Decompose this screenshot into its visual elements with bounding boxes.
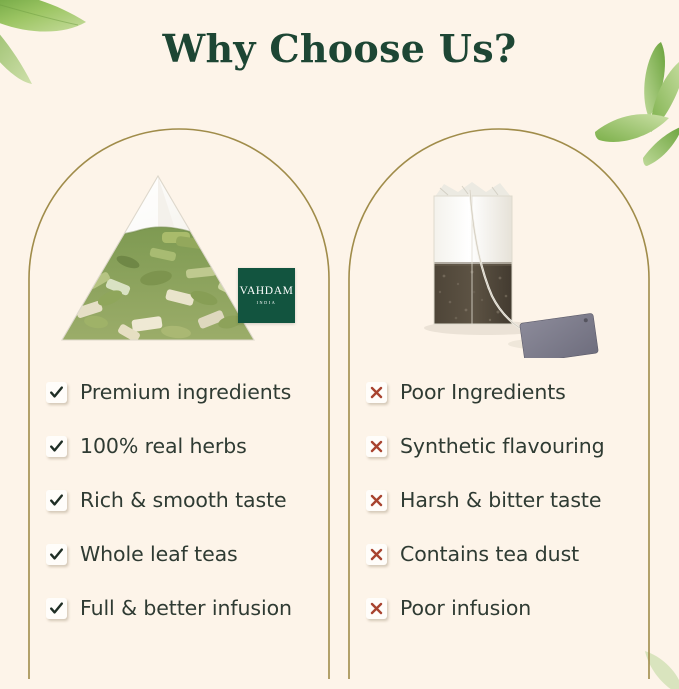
vahdam-sub-text: INDIA: [257, 301, 277, 305]
cross-icon: [366, 598, 387, 619]
pros-list: Premium ingredients 100% real herbs Rich…: [46, 372, 336, 642]
cross-icon: [366, 490, 387, 511]
list-item-label: Full & better infusion: [80, 596, 292, 620]
vahdam-brand-text: VAHDAM: [240, 286, 294, 298]
list-item-label: Poor Ingredients: [400, 380, 566, 404]
list-item: Poor Ingredients: [366, 372, 666, 412]
list-item: 100% real herbs: [46, 426, 336, 466]
list-item: Synthetic flavouring: [366, 426, 666, 466]
list-item: Contains tea dust: [366, 534, 666, 574]
page-title: Why Choose Us?: [0, 26, 679, 71]
ordinary-teabag-image: [400, 168, 610, 358]
check-icon: [46, 382, 67, 403]
list-item: Poor infusion: [366, 588, 666, 628]
check-icon: [46, 598, 67, 619]
list-item: Rich & smooth taste: [46, 480, 336, 520]
comparison-infographic: Why Choose Us?: [0, 0, 679, 679]
list-item-label: Poor infusion: [400, 596, 531, 620]
list-item: Harsh & bitter taste: [366, 480, 666, 520]
pyramid-teabag-image: [58, 172, 258, 344]
list-item-label: Premium ingredients: [80, 380, 291, 404]
vahdam-logo: VAHDAM INDIA: [238, 268, 295, 323]
cross-icon: [366, 436, 387, 457]
list-item-label: Whole leaf teas: [80, 542, 238, 566]
list-item-label: Rich & smooth taste: [80, 488, 287, 512]
list-item: Premium ingredients: [46, 372, 336, 412]
check-icon: [46, 436, 67, 457]
list-item-label: 100% real herbs: [80, 434, 247, 458]
cross-icon: [366, 382, 387, 403]
check-icon: [46, 544, 67, 565]
cross-icon: [366, 544, 387, 565]
list-item: Whole leaf teas: [46, 534, 336, 574]
cons-list: Poor Ingredients Synthetic flavouring Ha…: [366, 372, 666, 642]
check-icon: [46, 490, 67, 511]
list-item-label: Contains tea dust: [400, 542, 579, 566]
list-item-label: Harsh & bitter taste: [400, 488, 601, 512]
list-item: Full & better infusion: [46, 588, 336, 628]
list-item-label: Synthetic flavouring: [400, 434, 605, 458]
